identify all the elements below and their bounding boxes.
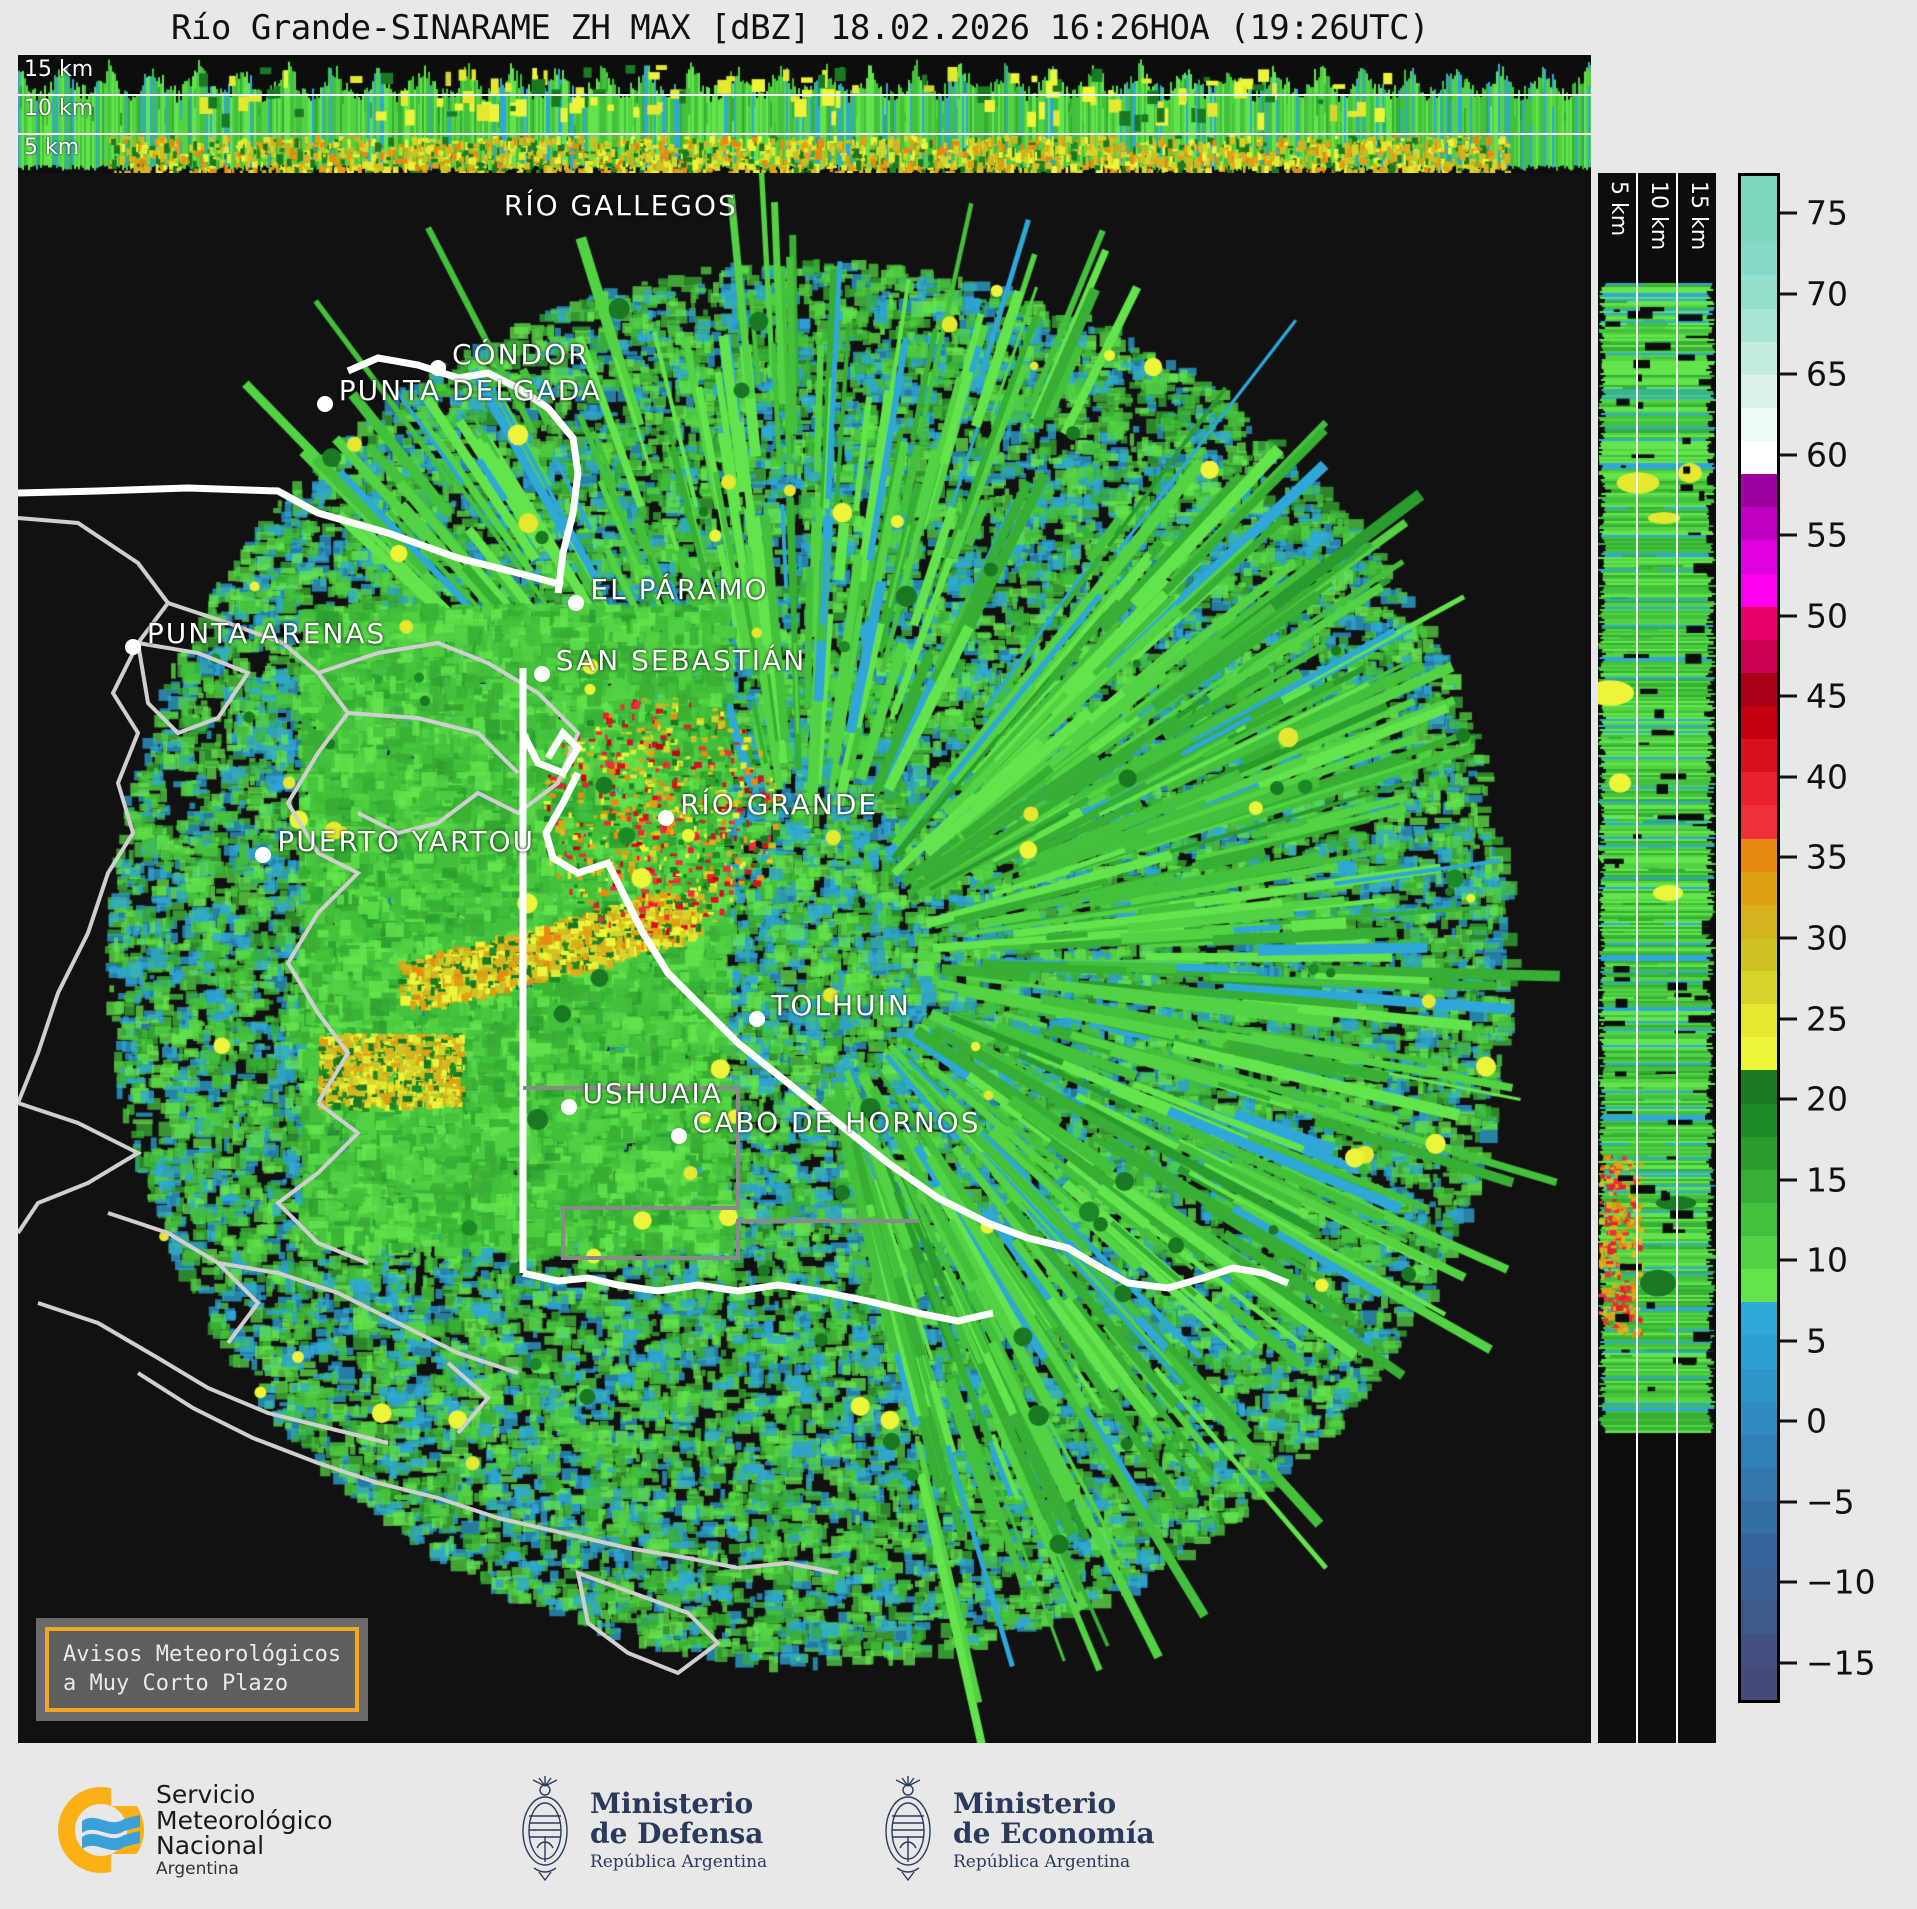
economia-subline: República Argentina bbox=[953, 1853, 1155, 1871]
height-label-5km-v: 5 km bbox=[1606, 181, 1631, 236]
defensa-line-2: de Defensa bbox=[590, 1819, 767, 1849]
colorbar-swatch bbox=[1741, 474, 1777, 507]
colorbar-tick-dash bbox=[1780, 695, 1797, 698]
colorbar-swatch bbox=[1741, 1534, 1777, 1567]
page-title: Río Grande-SINARAME ZH MAX [dBZ] 18.02.2… bbox=[0, 8, 1600, 48]
colorbar-tick-dash bbox=[1780, 453, 1797, 456]
colorbar-tick-value: −5 bbox=[1806, 1482, 1855, 1521]
colorbar-tick-dash bbox=[1780, 1420, 1797, 1423]
colorbar-tick-dash bbox=[1780, 937, 1797, 940]
logo-servicio-meteorologico-nacional: Servicio Meteorológico Nacional Argentin… bbox=[58, 1782, 333, 1878]
city-label-tolhuin: TOLHUIN bbox=[771, 989, 911, 1022]
logo-ministerio-de-defensa: Ministerio de Defensa República Argentin… bbox=[512, 1776, 767, 1884]
colorbar-tick: 75 bbox=[1780, 194, 1848, 233]
colorbar-swatch bbox=[1741, 905, 1777, 938]
colorbar-swatch bbox=[1741, 309, 1777, 342]
warning-line-1: Avisos Meteorológicos bbox=[63, 1640, 341, 1670]
colorbar: 757065605550454035302520151050−5−10−15 bbox=[1738, 173, 1908, 1743]
colorbar-swatch bbox=[1741, 607, 1777, 640]
colorbar-swatch bbox=[1741, 209, 1777, 242]
colorbar-swatch bbox=[1741, 1600, 1777, 1633]
city-label-río-grande: RÍO GRANDE bbox=[680, 788, 878, 821]
colorbar-tick-dash bbox=[1780, 1581, 1797, 1584]
colorbar-tick: −15 bbox=[1780, 1643, 1876, 1682]
colorbar-swatch bbox=[1741, 408, 1777, 441]
city-label-punta-arenas: PUNTA ARENAS bbox=[147, 617, 386, 650]
height-label-10km-v: 10 km bbox=[1646, 181, 1671, 250]
city-marker-dot bbox=[671, 1128, 687, 1144]
colorbar-tick-dash bbox=[1780, 775, 1797, 778]
colorbar-tick-value: 45 bbox=[1806, 677, 1848, 716]
colorbar-swatch bbox=[1741, 1302, 1777, 1335]
colorbar-tick: 10 bbox=[1780, 1241, 1848, 1280]
colorbar-swatch bbox=[1741, 275, 1777, 308]
colorbar-swatch bbox=[1741, 1004, 1777, 1037]
colorbar-swatch bbox=[1741, 1369, 1777, 1402]
economia-line-1: Ministerio bbox=[953, 1789, 1155, 1819]
city-label-cóndor: CÓNDOR bbox=[452, 338, 590, 371]
colorbar-swatch bbox=[1741, 242, 1777, 275]
colorbar-swatch bbox=[1741, 872, 1777, 905]
colorbar-tick-value: 30 bbox=[1806, 919, 1848, 958]
colorbar-tick-dash bbox=[1780, 1017, 1797, 1020]
colorbar-swatch bbox=[1741, 839, 1777, 872]
colorbar-tick: 45 bbox=[1780, 677, 1848, 716]
footer-logo-bar: Servicio Meteorológico Nacional Argentin… bbox=[0, 1750, 1917, 1909]
colorbar-swatch bbox=[1741, 441, 1777, 474]
colorbar-swatch bbox=[1741, 1501, 1777, 1534]
city-label-san-sebastián: SAN SEBASTIÁN bbox=[556, 644, 806, 677]
colorbar-swatch bbox=[1741, 540, 1777, 573]
colorbar-swatch bbox=[1741, 739, 1777, 772]
colorbar-tick-dash bbox=[1780, 1259, 1797, 1262]
nowcast-warning-badge[interactable]: Avisos Meteorológicos a Muy Corto Plazo bbox=[36, 1618, 368, 1721]
colorbar-swatch bbox=[1741, 1667, 1777, 1700]
coastline-and-border-overlay bbox=[18, 173, 1591, 1743]
colorbar-tick-dash bbox=[1780, 1098, 1797, 1101]
colorbar-tick-dash bbox=[1780, 614, 1797, 617]
colorbar-swatch bbox=[1741, 1037, 1777, 1070]
colorbar-swatch bbox=[1741, 1070, 1777, 1103]
colorbar-tick-value: 0 bbox=[1806, 1402, 1827, 1441]
colorbar-swatch bbox=[1741, 1634, 1777, 1667]
colorbar-swatch bbox=[1741, 772, 1777, 805]
colorbar-swatch bbox=[1741, 938, 1777, 971]
colorbar-swatch bbox=[1741, 574, 1777, 607]
radar-plan-view-panel[interactable]: RÍO GALLEGOSCÓNDORPUNTA DELGADAPUNTA ARE… bbox=[18, 173, 1591, 1743]
colorbar-swatch bbox=[1741, 1236, 1777, 1269]
smn-logo-icon bbox=[58, 1787, 144, 1873]
colorbar-tick-value: 50 bbox=[1806, 596, 1848, 635]
colorbar-swatch bbox=[1741, 342, 1777, 375]
colorbar-tick-value: 60 bbox=[1806, 435, 1848, 474]
colorbar-swatch bbox=[1741, 640, 1777, 673]
colorbar-tick-value: 15 bbox=[1806, 1160, 1848, 1199]
colorbar-tick-value: 10 bbox=[1806, 1241, 1848, 1280]
city-label-río-gallegos: RÍO GALLEGOS bbox=[504, 189, 738, 222]
defensa-line-1: Ministerio bbox=[590, 1789, 767, 1819]
colorbar-swatch bbox=[1741, 673, 1777, 706]
colorbar-swatch bbox=[1741, 375, 1777, 408]
colorbar-swatch bbox=[1741, 1203, 1777, 1236]
colorbar-tick: 65 bbox=[1780, 355, 1848, 394]
colorbar-tick: 70 bbox=[1780, 274, 1848, 313]
colorbar-tick-value: 35 bbox=[1806, 838, 1848, 877]
smn-line-1: Servicio bbox=[156, 1782, 333, 1808]
colorbar-tick-dash bbox=[1780, 1500, 1797, 1503]
colorbar-tick-dash bbox=[1780, 534, 1797, 537]
defensa-subline: República Argentina bbox=[590, 1853, 767, 1871]
smn-line-2: Meteorológico bbox=[156, 1808, 333, 1834]
colorbar-tick-dash bbox=[1780, 373, 1797, 376]
height-label-5km: 5 km bbox=[24, 135, 79, 160]
height-gridline-5km bbox=[18, 133, 1591, 135]
colorbar-swatch bbox=[1741, 1468, 1777, 1501]
colorbar-tick: 30 bbox=[1780, 919, 1848, 958]
city-label-el-páramo: EL PÁRAMO bbox=[590, 573, 768, 606]
colorbar-tick-dash bbox=[1780, 292, 1797, 295]
colorbar-swatch bbox=[1741, 1335, 1777, 1368]
colorbar-tick-value: 40 bbox=[1806, 757, 1848, 796]
smn-line-3: Nacional bbox=[156, 1833, 333, 1859]
colorbar-tick: 40 bbox=[1780, 757, 1848, 796]
city-label-punta-delgada: PUNTA DELGADA bbox=[339, 374, 602, 407]
economia-line-2: de Economía bbox=[953, 1819, 1155, 1849]
colorbar-tick-value: 70 bbox=[1806, 274, 1848, 313]
colorbar-tick: 55 bbox=[1780, 516, 1848, 555]
colorbar-gradient bbox=[1738, 173, 1780, 1703]
height-label-10km: 10 km bbox=[24, 96, 93, 121]
right-cross-section-panel: 5 km 10 km 15 km bbox=[1598, 173, 1716, 1743]
colorbar-swatch bbox=[1741, 1170, 1777, 1203]
height-gridline-5km-v bbox=[1636, 173, 1638, 1743]
top-cross-section-echo bbox=[18, 55, 1591, 173]
colorbar-swatch bbox=[1741, 1104, 1777, 1137]
colorbar-swatch bbox=[1741, 1137, 1777, 1170]
colorbar-tick: 20 bbox=[1780, 1080, 1848, 1119]
colorbar-tick: 0 bbox=[1780, 1402, 1827, 1441]
colorbar-tick: −10 bbox=[1780, 1563, 1876, 1602]
city-marker-dot bbox=[317, 396, 333, 412]
colorbar-swatch bbox=[1741, 1402, 1777, 1435]
colorbar-tick-value: 20 bbox=[1806, 1080, 1848, 1119]
colorbar-tick: −5 bbox=[1780, 1482, 1855, 1521]
colorbar-swatch bbox=[1741, 507, 1777, 540]
warning-line-2: a Muy Corto Plazo bbox=[63, 1669, 341, 1699]
colorbar-tick-value: 75 bbox=[1806, 194, 1848, 233]
colorbar-tick: 35 bbox=[1780, 838, 1848, 877]
colorbar-tick-value: 5 bbox=[1806, 1321, 1827, 1360]
colorbar-swatch bbox=[1741, 1269, 1777, 1302]
city-label-puerto-yartou: PUERTO YARTOU bbox=[277, 825, 535, 858]
colorbar-swatch bbox=[1741, 176, 1777, 209]
colorbar-tick: 25 bbox=[1780, 999, 1848, 1038]
colorbar-tick-dash bbox=[1780, 1178, 1797, 1181]
city-marker-dot bbox=[534, 666, 550, 682]
colorbar-tick-dash bbox=[1780, 212, 1797, 215]
colorbar-tick-value: −15 bbox=[1806, 1643, 1876, 1682]
colorbar-tick-value: 65 bbox=[1806, 355, 1848, 394]
colorbar-swatch bbox=[1741, 1435, 1777, 1468]
height-gridline-10km-v bbox=[1676, 173, 1678, 1743]
colorbar-tick-labels: 757065605550454035302520151050−5−10−15 bbox=[1780, 173, 1908, 1703]
city-label-cabo-de-hornos: CABO DE HORNOS bbox=[693, 1106, 981, 1139]
height-label-15km: 15 km bbox=[24, 57, 93, 82]
argentina-coat-of-arms-icon bbox=[512, 1776, 578, 1884]
smn-subline: Argentina bbox=[156, 1861, 333, 1878]
colorbar-tick-value: 25 bbox=[1806, 999, 1848, 1038]
colorbar-tick: 15 bbox=[1780, 1160, 1848, 1199]
colorbar-tick-value: −10 bbox=[1806, 1563, 1876, 1602]
colorbar-swatch bbox=[1741, 1567, 1777, 1600]
right-cross-section-echo bbox=[1598, 173, 1716, 1743]
top-cross-section-panel: 15 km 10 km 5 km bbox=[18, 55, 1591, 173]
colorbar-tick: 60 bbox=[1780, 435, 1848, 474]
logo-ministerio-de-economia: Ministerio de Economía República Argenti… bbox=[875, 1776, 1155, 1884]
colorbar-swatch bbox=[1741, 805, 1777, 838]
colorbar-tick-dash bbox=[1780, 1339, 1797, 1342]
colorbar-tick-dash bbox=[1780, 856, 1797, 859]
colorbar-tick-dash bbox=[1780, 1661, 1797, 1664]
colorbar-swatch bbox=[1741, 706, 1777, 739]
colorbar-tick-value: 55 bbox=[1806, 516, 1848, 555]
argentina-coat-of-arms-icon-2 bbox=[875, 1776, 941, 1884]
colorbar-tick: 50 bbox=[1780, 596, 1848, 635]
city-marker-dot bbox=[255, 847, 271, 863]
height-label-15km-v: 15 km bbox=[1686, 181, 1711, 250]
colorbar-tick: 5 bbox=[1780, 1321, 1827, 1360]
height-gridline-10km bbox=[18, 94, 1591, 96]
colorbar-swatch bbox=[1741, 971, 1777, 1004]
city-marker-dot bbox=[561, 1099, 577, 1115]
